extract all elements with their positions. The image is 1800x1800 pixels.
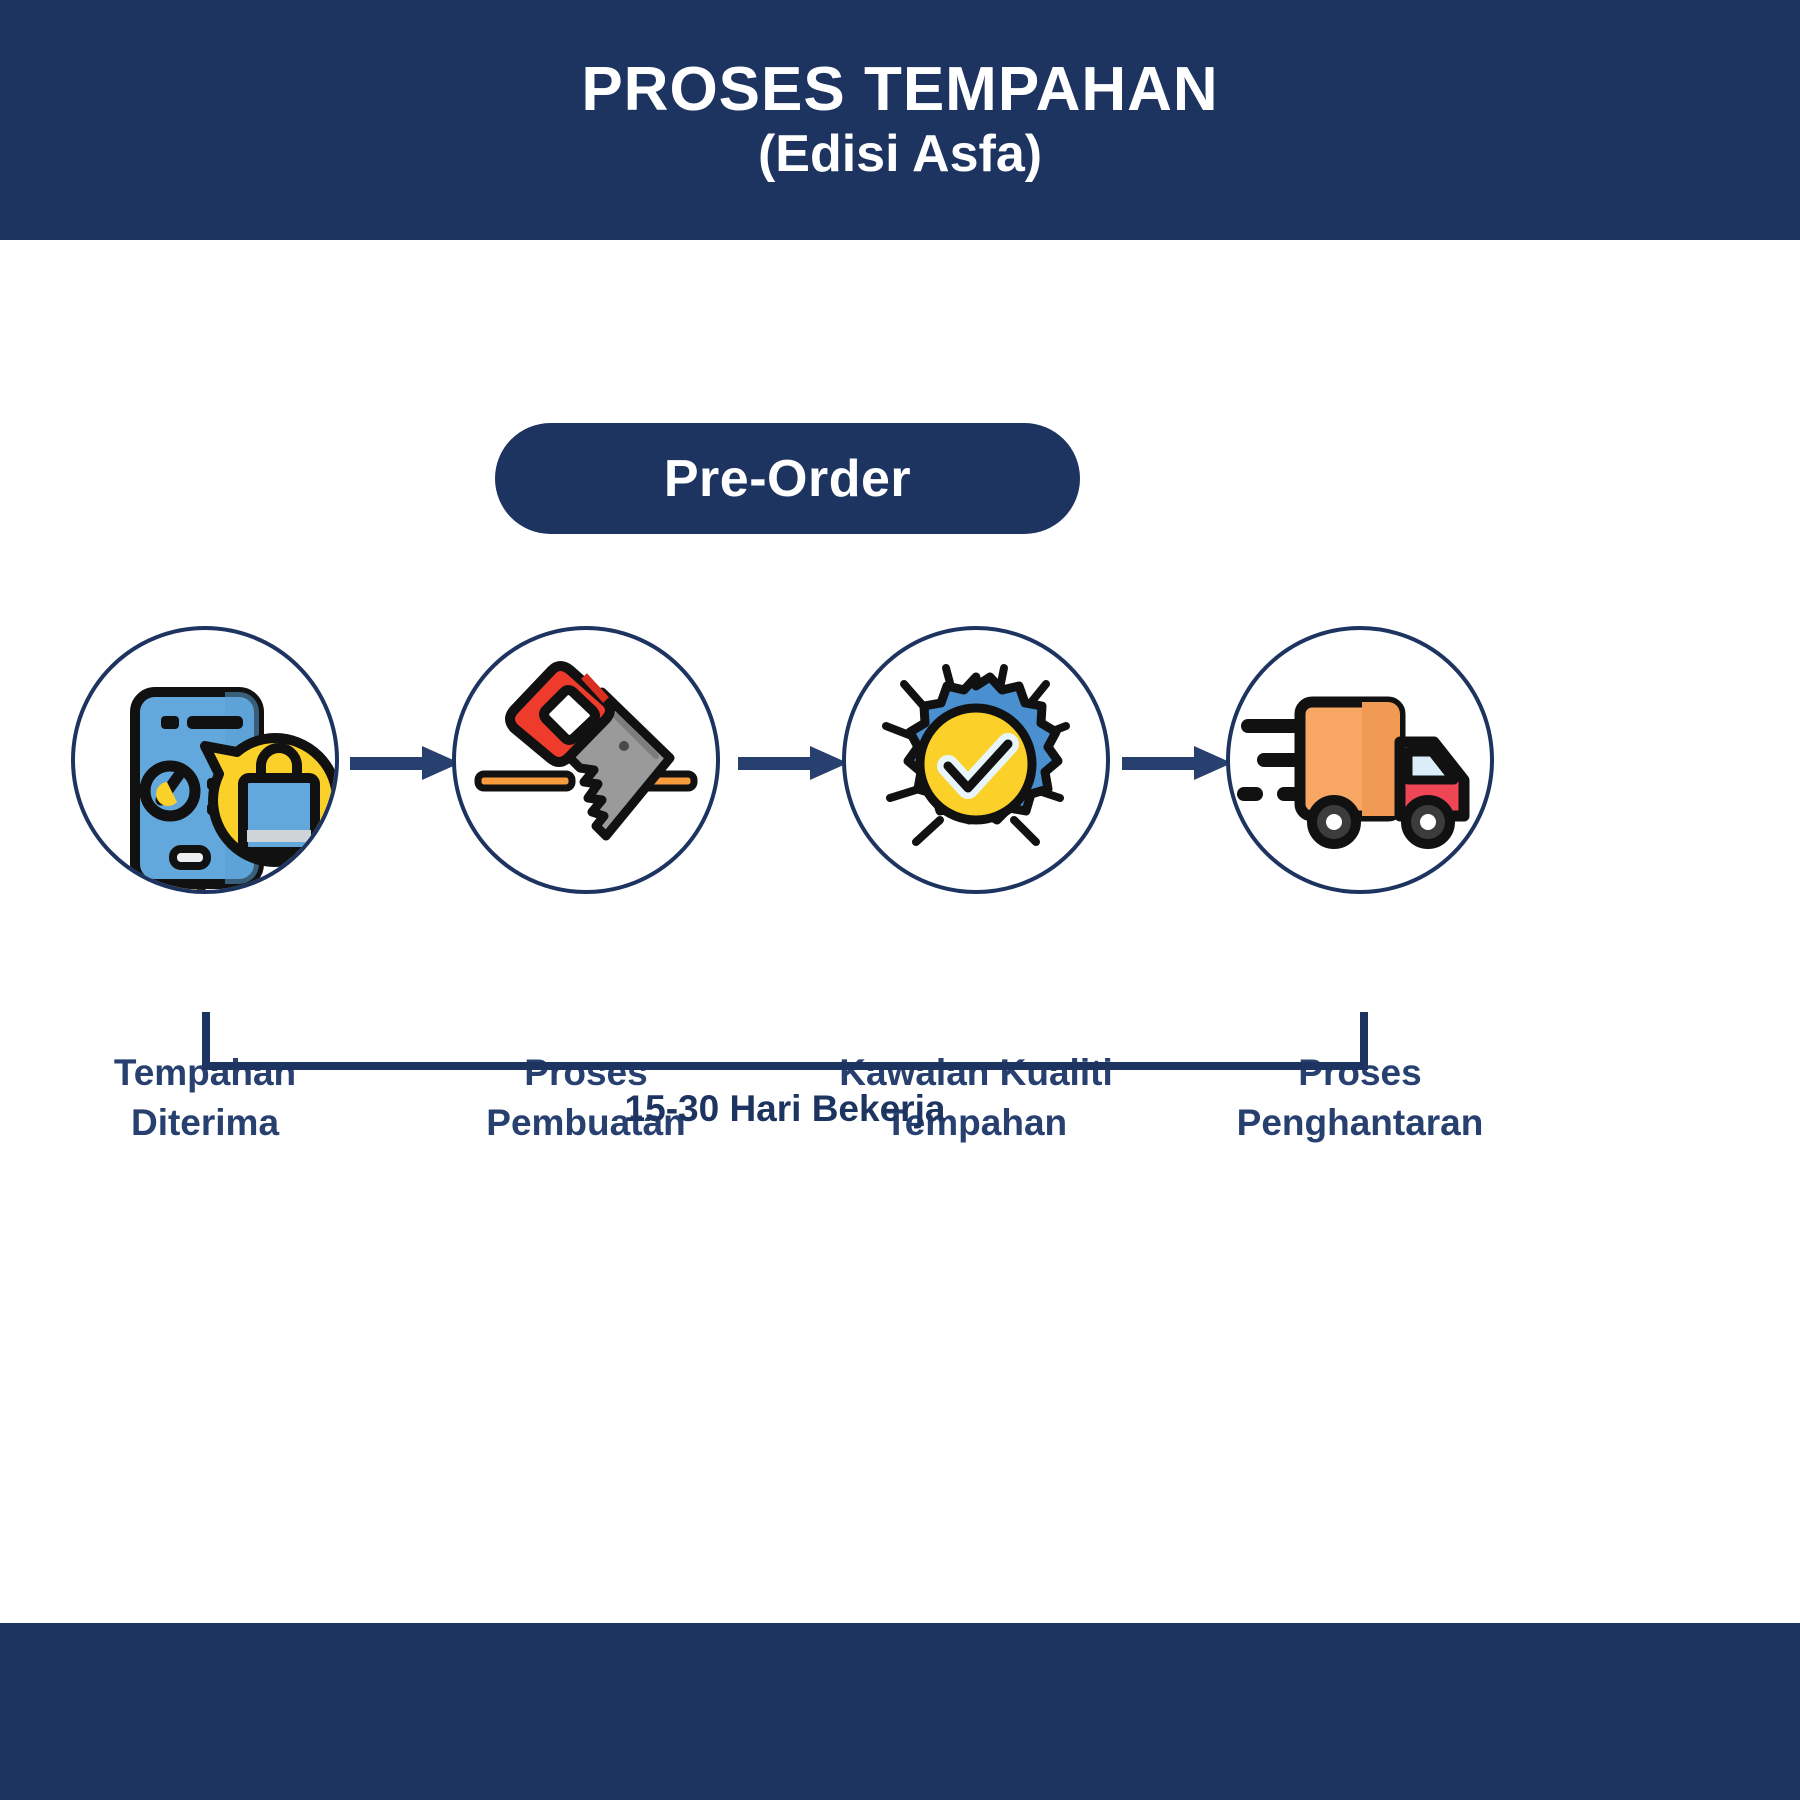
step-circle-2[interactable] <box>452 626 720 894</box>
step-circle-1[interactable] <box>71 626 339 894</box>
preorder-badge-label: Pre-Order <box>664 449 911 509</box>
flow-arrow-3 <box>1122 746 1232 766</box>
flow-arrow-1 <box>350 746 460 766</box>
step-circle-4[interactable] <box>1226 626 1494 894</box>
header-bar: PROSES TEMPAHAN (Edisi Asfa) <box>0 0 1800 240</box>
duration-label: 15-30 Hari Bekerja <box>0 1088 1570 1130</box>
preorder-badge[interactable]: Pre-Order <box>495 423 1080 534</box>
step-circle-3[interactable] <box>842 626 1110 894</box>
delivery-truck-icon <box>1230 630 1490 890</box>
handsaw-icon <box>456 630 716 890</box>
duration-bracket <box>200 1012 1370 1072</box>
phone-order-icon <box>75 630 335 890</box>
flow-arrow-2 <box>738 746 848 766</box>
page-subtitle: (Edisi Asfa) <box>758 126 1042 183</box>
process-flow <box>0 620 1800 900</box>
quality-badge-check-icon <box>846 630 1106 890</box>
page-title: PROSES TEMPAHAN <box>581 57 1218 122</box>
footer-bar <box>0 1623 1800 1800</box>
